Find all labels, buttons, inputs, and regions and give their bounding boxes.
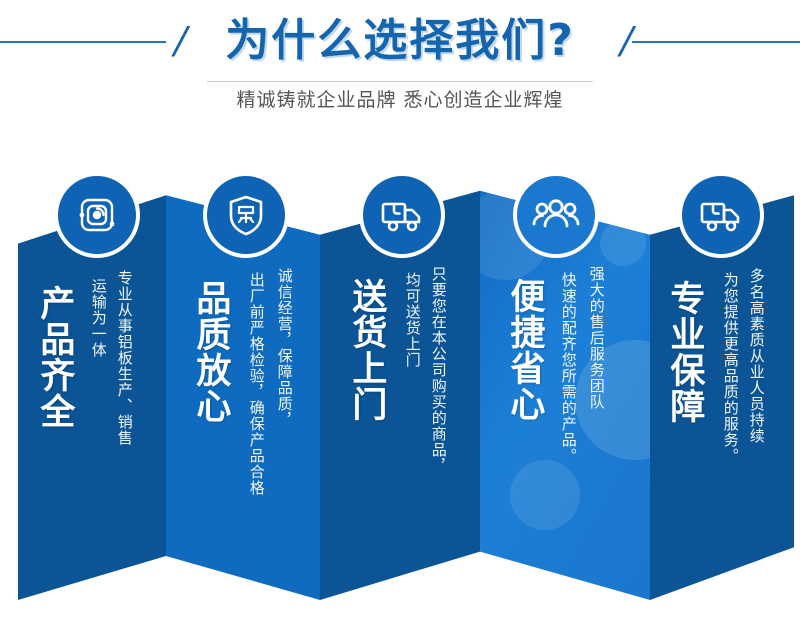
panel-desc-line-2: 出厂前严格检验，确保产品合格 [248,272,265,496]
panel-desc-line-1: 多名高素质从业人员持续 [748,268,765,444]
feature-panel-group: 产品齐全 专业从事铝板生产、销售 运输为一体 品质放心 诚信经营，保障品质， 出… [0,160,800,640]
banner-header: / / 为什么选择我们? 精诚铸就企业品牌 悉心创造企业辉煌 [0,0,800,130]
panel-desc-line-1: 只要您在本公司购买的商品， [430,266,447,474]
panel-desc-line-1: 专业从事铝板生产、销售 [116,270,133,446]
panel-heading: 产品齐全 [36,285,72,429]
banner-canvas: / / 为什么选择我们? 精诚铸就企业品牌 悉心创造企业辉煌 [0,0,800,640]
bokeh-circle [575,340,650,460]
panel-heading: 专业保障 [666,280,702,424]
panel-heading: 品质放心 [192,280,228,424]
panel-desc-line-2: 为您提供更高品质的服务。 [722,272,739,464]
panel-desc-line-2: 均可送货上门 [404,272,421,368]
delivery-truck-icon [359,172,445,258]
subtitle-divider [207,81,593,82]
page-title: 为什么选择我们? [0,12,800,70]
safe-box-icon [54,172,140,258]
bokeh-circle [600,220,646,266]
delivery-truck-icon [678,172,764,258]
panel-desc-line-1: 强大的售后服务团队 [588,266,605,410]
panel-heading: 送货上门 [348,278,384,422]
panel-heading: 便捷省心 [506,278,542,422]
page-subtitle: 精诚铸就企业品牌 悉心创造企业辉煌 [0,86,800,114]
team-people-icon [513,172,599,258]
panel-desc-line-2: 运输为一体 [90,278,107,358]
shield-quality-icon [203,172,289,258]
bokeh-circle [510,460,580,530]
panel-desc-line-2: 快速的配齐您所需的产品。 [560,272,577,464]
panel-desc-line-1: 诚信经营，保障品质， [276,268,293,428]
